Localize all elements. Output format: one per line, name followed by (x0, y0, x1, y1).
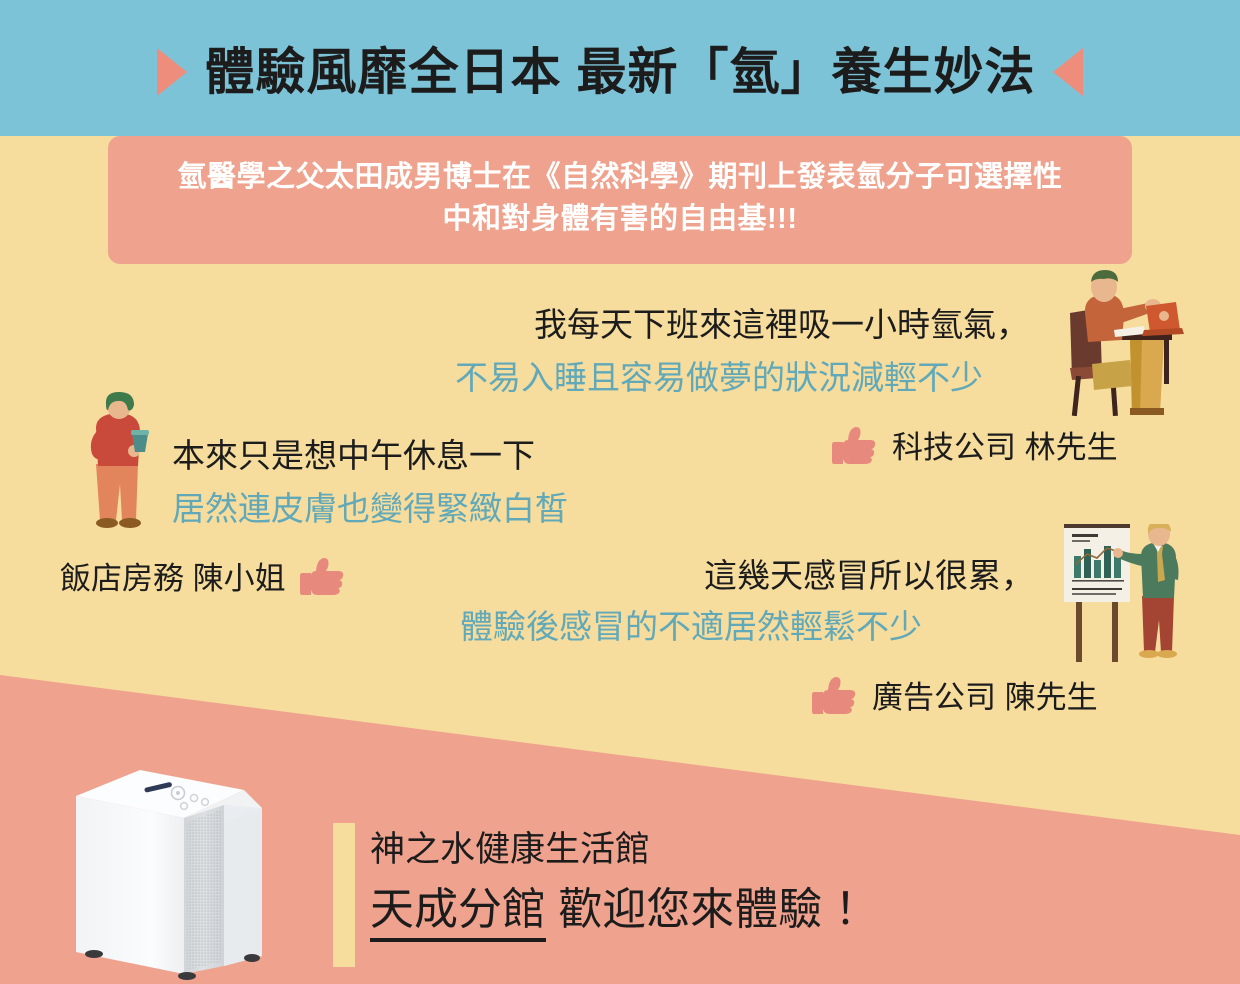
poster-canvas: 體驗風靡全日本 最新「氫」養生妙法 氫醫學之父太田成男博士在《自然科學》期刊上發… (0, 0, 1240, 984)
thumbs-up-icon (812, 675, 858, 715)
testimonial-2-line-1: 本來只是想中午休息一下 (172, 436, 535, 476)
testimonial-1-line-2: 不易入睡且容易做夢的狀況減輕不少 (455, 358, 983, 398)
footer-branch-name: 天成分館 (370, 885, 546, 942)
thumbs-up-icon (832, 425, 878, 465)
testimonial-1-attribution: 科技公司 林先生 (832, 422, 1118, 467)
man-at-desk-with-laptop-illustration (1052, 268, 1240, 423)
triangle-right-icon (157, 48, 187, 96)
testimonial-3-attribution-label: 廣告公司 陳先生 (872, 672, 1098, 717)
testimonial-1-attribution-label: 科技公司 林先生 (892, 422, 1118, 467)
footer-invite-line: 天成分館 歡迎您來體驗 ！ (370, 884, 1070, 937)
testimonial-2-line-2: 居然連皮膚也變得緊緻白皙 (172, 489, 568, 529)
air-purifier-device-illustration (66, 760, 281, 984)
header-title-row: 體驗風靡全日本 最新「氫」養生妙法 (0, 36, 1240, 108)
testimonial-3-line-2: 體驗後感冒的不適居然輕鬆不少 (460, 607, 922, 647)
testimonial-3-line-1: 這幾天感冒所以很累， (704, 556, 1034, 596)
page-title: 體驗風靡全日本 最新「氫」養生妙法 (205, 47, 1036, 97)
subtitle-line-2: 中和對身體有害的自由基!!! (138, 198, 1102, 240)
triangle-left-icon (1053, 48, 1083, 96)
subtitle-line-1: 氫醫學之父太田成男博士在《自然科學》期刊上發表氫分子可選擇性 (138, 156, 1102, 198)
thumbs-up-icon (300, 556, 346, 596)
man-presenting-bar-chart-illustration (1062, 524, 1237, 669)
footer-accent-bar (333, 823, 355, 967)
footer-invite-text: 歡迎您來體驗 ！ (546, 885, 878, 934)
subtitle-banner: 氫醫學之父太田成男博士在《自然科學》期刊上發表氫分子可選擇性 中和對身體有害的自… (108, 136, 1132, 264)
woman-holding-cup-illustration (74, 392, 174, 540)
testimonial-1-line-1: 我每天下班來這裡吸一小時氫氣， (534, 305, 1029, 345)
testimonial-2-attribution-label: 飯店房務 陳小姐 (60, 553, 286, 598)
footer-brand-name: 神之水健康生活館 (370, 828, 1070, 872)
testimonial-3-attribution: 廣告公司 陳先生 (812, 672, 1098, 717)
testimonial-2-attribution: 飯店房務 陳小姐 (60, 553, 346, 598)
footer-text-block: 神之水健康生活館 天成分館 歡迎您來體驗 ！ (370, 828, 1070, 937)
